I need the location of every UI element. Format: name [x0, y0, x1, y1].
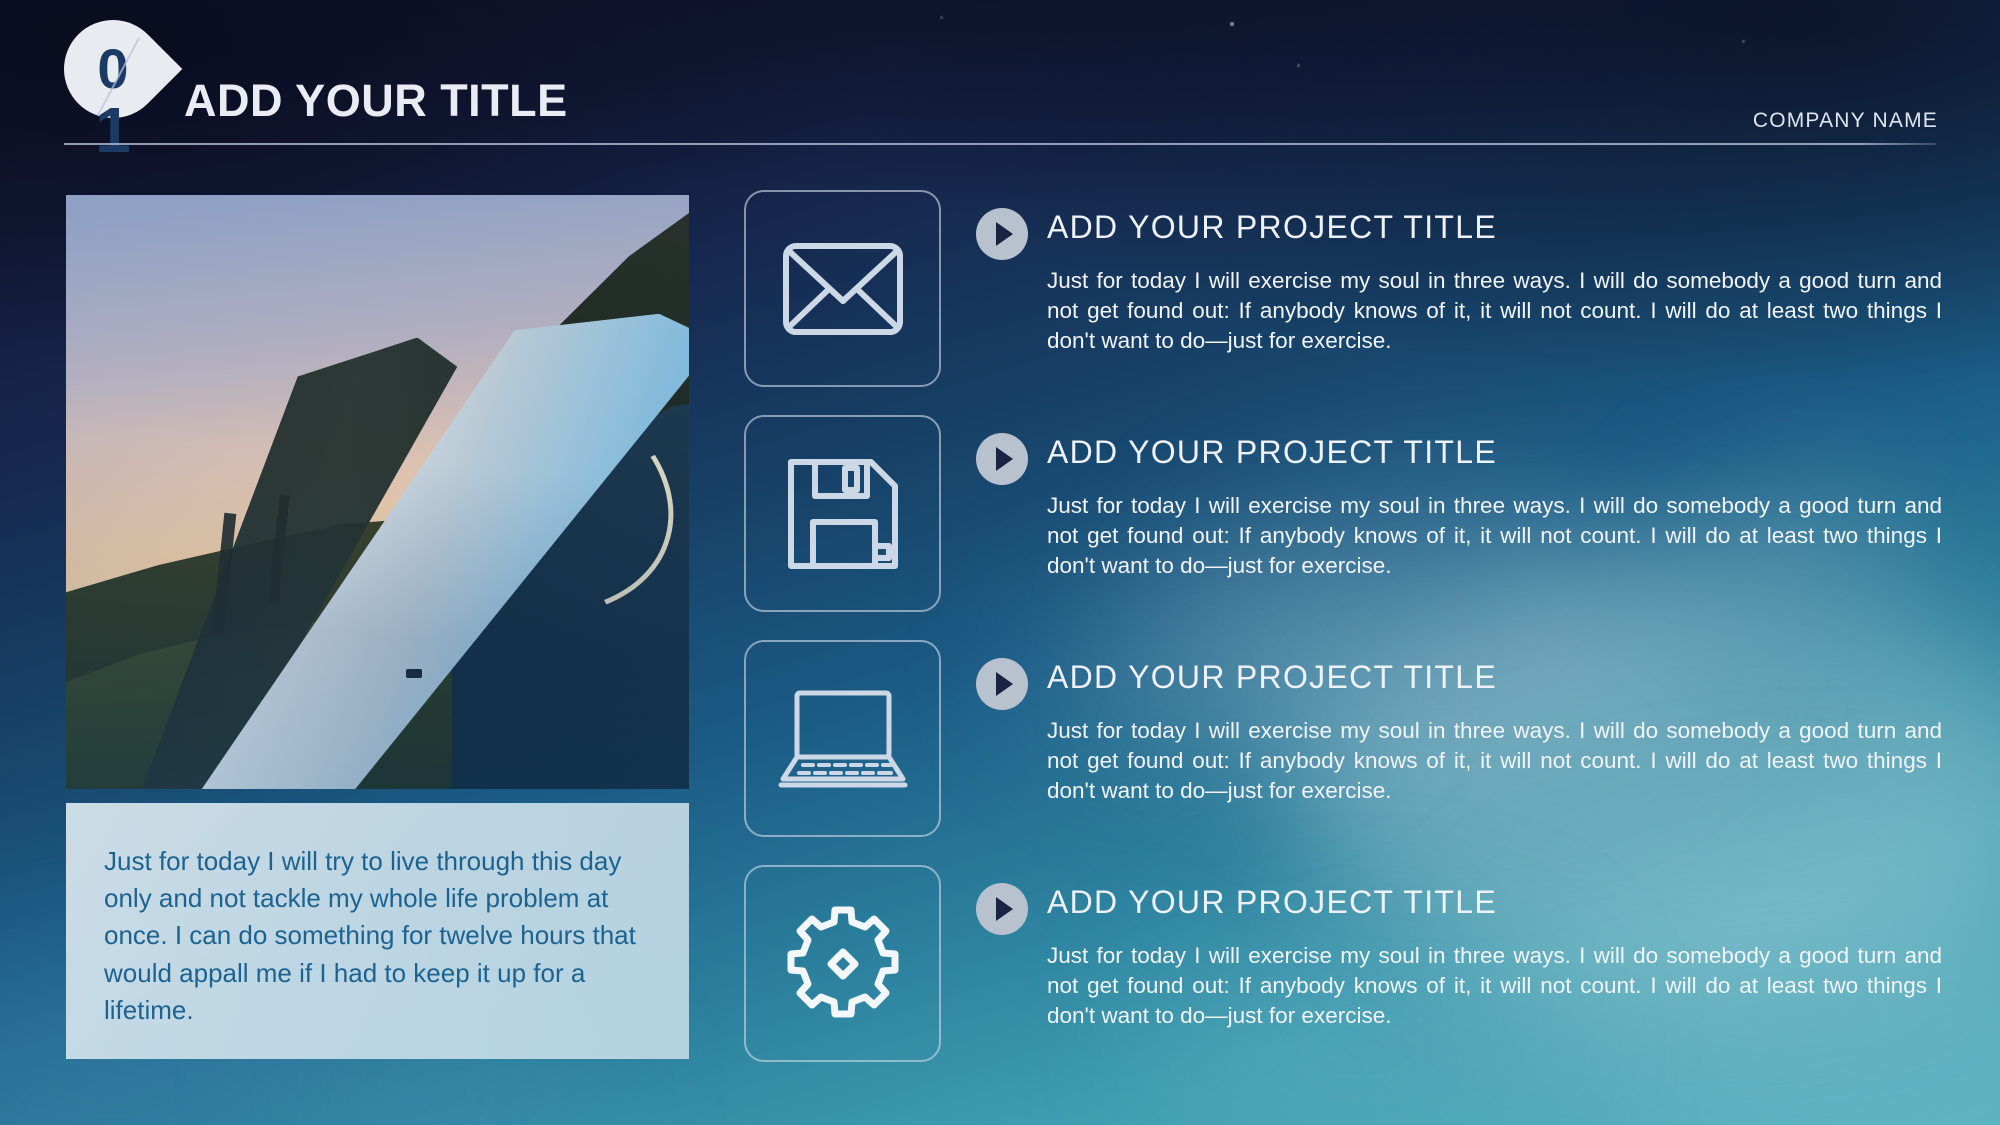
project-body: Just for today I will exercise my soul i…: [1047, 941, 1942, 1031]
project-title: ADD YOUR PROJECT TITLE: [1047, 436, 1497, 468]
slide: 0 1 ADD YOUR TITLE COMPANY NAME Just for…: [0, 0, 2000, 1125]
slide-header: 0 1 ADD YOUR TITLE COMPANY NAME: [0, 0, 2000, 150]
envelope-icon[interactable]: [744, 190, 941, 387]
project-row[interactable]: ADD YOUR PROJECT TITLE Just for today I …: [744, 640, 1944, 865]
pin-subnumber: 1: [64, 98, 162, 162]
project-title: ADD YOUR PROJECT TITLE: [1047, 886, 1497, 918]
project-list: ADD YOUR PROJECT TITLE Just for today I …: [744, 190, 1944, 1090]
floppy-disk-icon[interactable]: [744, 415, 941, 612]
project-body: Just for today I will exercise my soul i…: [1047, 716, 1942, 806]
project-body: Just for today I will exercise my soul i…: [1047, 266, 1942, 356]
gear-icon[interactable]: [744, 865, 941, 1062]
header-divider: [64, 143, 1936, 145]
laptop-icon[interactable]: [744, 640, 941, 837]
play-icon[interactable]: [976, 433, 1028, 485]
caption-text: Just for today I will try to live throug…: [104, 843, 651, 1029]
photo-color-tone: [66, 195, 689, 789]
project-body: Just for today I will exercise my soul i…: [1047, 491, 1942, 581]
project-title: ADD YOUR PROJECT TITLE: [1047, 661, 1497, 693]
play-icon[interactable]: [976, 658, 1028, 710]
play-icon[interactable]: [976, 208, 1028, 260]
company-name: COMPANY NAME: [1753, 110, 1938, 131]
project-title: ADD YOUR PROJECT TITLE: [1047, 211, 1497, 243]
play-icon[interactable]: [976, 883, 1028, 935]
hero-photo: [66, 195, 689, 789]
project-row[interactable]: ADD YOUR PROJECT TITLE Just for today I …: [744, 190, 1944, 415]
photo-caption-box: Just for today I will try to live throug…: [66, 803, 689, 1059]
page-title: ADD YOUR TITLE: [184, 78, 568, 123]
project-row[interactable]: ADD YOUR PROJECT TITLE Just for today I …: [744, 415, 1944, 640]
project-row[interactable]: ADD YOUR PROJECT TITLE Just for today I …: [744, 865, 1944, 1090]
